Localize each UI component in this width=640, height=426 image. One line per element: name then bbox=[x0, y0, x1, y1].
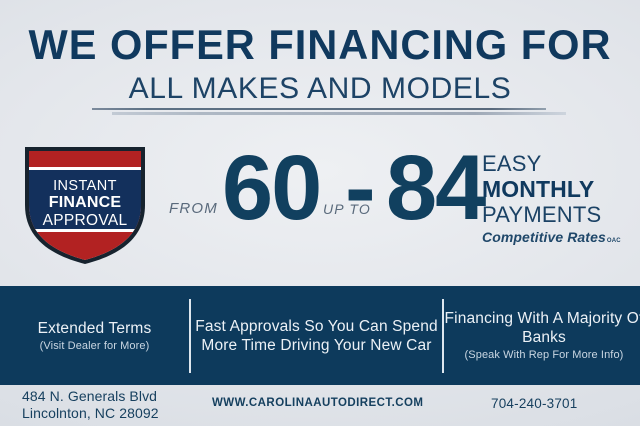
payment-descriptor-block: EASY MONTHLY PAYMENTS Competitive RatesO… bbox=[482, 152, 640, 250]
feature-subtitle: (Speak With Rep For More Info) bbox=[444, 348, 640, 362]
instant-finance-approval-badge: INSTANT FINANCE APPROVAL bbox=[20, 143, 150, 265]
descriptor-monthly: MONTHLY bbox=[482, 176, 640, 202]
competitive-rates-note: Competitive RatesOAC bbox=[482, 228, 640, 250]
feature-band-inner: Extended Terms (Visit Dealer for More) F… bbox=[0, 286, 640, 385]
range-separator: - bbox=[345, 142, 376, 234]
competitive-rates-text: Competitive Rates bbox=[482, 229, 606, 245]
feature-title: Financing With A Majority Of Banks bbox=[444, 309, 640, 347]
term-min-value: 60 bbox=[222, 142, 320, 234]
address-line-2: Lincolnton, NC 28092 bbox=[22, 405, 159, 422]
offer-terms-block: FROM 60 - UP TO 84 EASY MONTHLY PAYMENTS… bbox=[160, 138, 640, 268]
term-max-value: 84 bbox=[386, 142, 484, 234]
feature-band: Extended Terms (Visit Dealer for More) F… bbox=[0, 286, 640, 385]
headline-secondary: ALL MAKES AND MODELS bbox=[0, 69, 640, 109]
dealer-phone-number[interactable]: 704-240-3701 bbox=[491, 396, 577, 411]
dealer-address: 484 N. Generals Blvd Lincolnton, NC 2809… bbox=[22, 388, 159, 422]
descriptor-payments: PAYMENTS bbox=[482, 202, 640, 227]
headline-divider bbox=[0, 108, 640, 118]
feature-title: Extended Terms bbox=[0, 319, 189, 338]
from-label: FROM bbox=[169, 200, 218, 217]
dealer-website-link[interactable]: WWW.CAROLINAAUTODIRECT.COM bbox=[212, 397, 423, 409]
feature-subtitle: (Visit Dealer for More) bbox=[0, 339, 189, 353]
feature-column-extended-terms: Extended Terms (Visit Dealer for More) bbox=[0, 319, 189, 353]
feature-column-majority-banks: Financing With A Majority Of Banks (Spea… bbox=[444, 309, 640, 362]
headline-primary: WE OFFER FINANCING FOR bbox=[3, 22, 637, 68]
financing-ad-banner: WE OFFER FINANCING FOR ALL MAKES AND MOD… bbox=[0, 0, 640, 426]
footer-bar: 484 N. Generals Blvd Lincolnton, NC 2809… bbox=[0, 385, 640, 426]
headline-block: WE OFFER FINANCING FOR ALL MAKES AND MOD… bbox=[0, 22, 640, 109]
divider-line-lower bbox=[112, 112, 566, 115]
feature-column-fast-approvals: Fast Approvals So You Can Spend More Tim… bbox=[191, 317, 442, 355]
upto-label: UP TO bbox=[323, 201, 371, 217]
shield-icon bbox=[20, 143, 150, 265]
feature-title: Fast Approvals So You Can Spend More Tim… bbox=[191, 317, 442, 355]
divider-line-upper bbox=[92, 108, 546, 110]
address-line-1: 484 N. Generals Blvd bbox=[22, 388, 159, 405]
descriptor-easy: EASY bbox=[482, 152, 640, 176]
oac-superscript: OAC bbox=[607, 238, 621, 244]
